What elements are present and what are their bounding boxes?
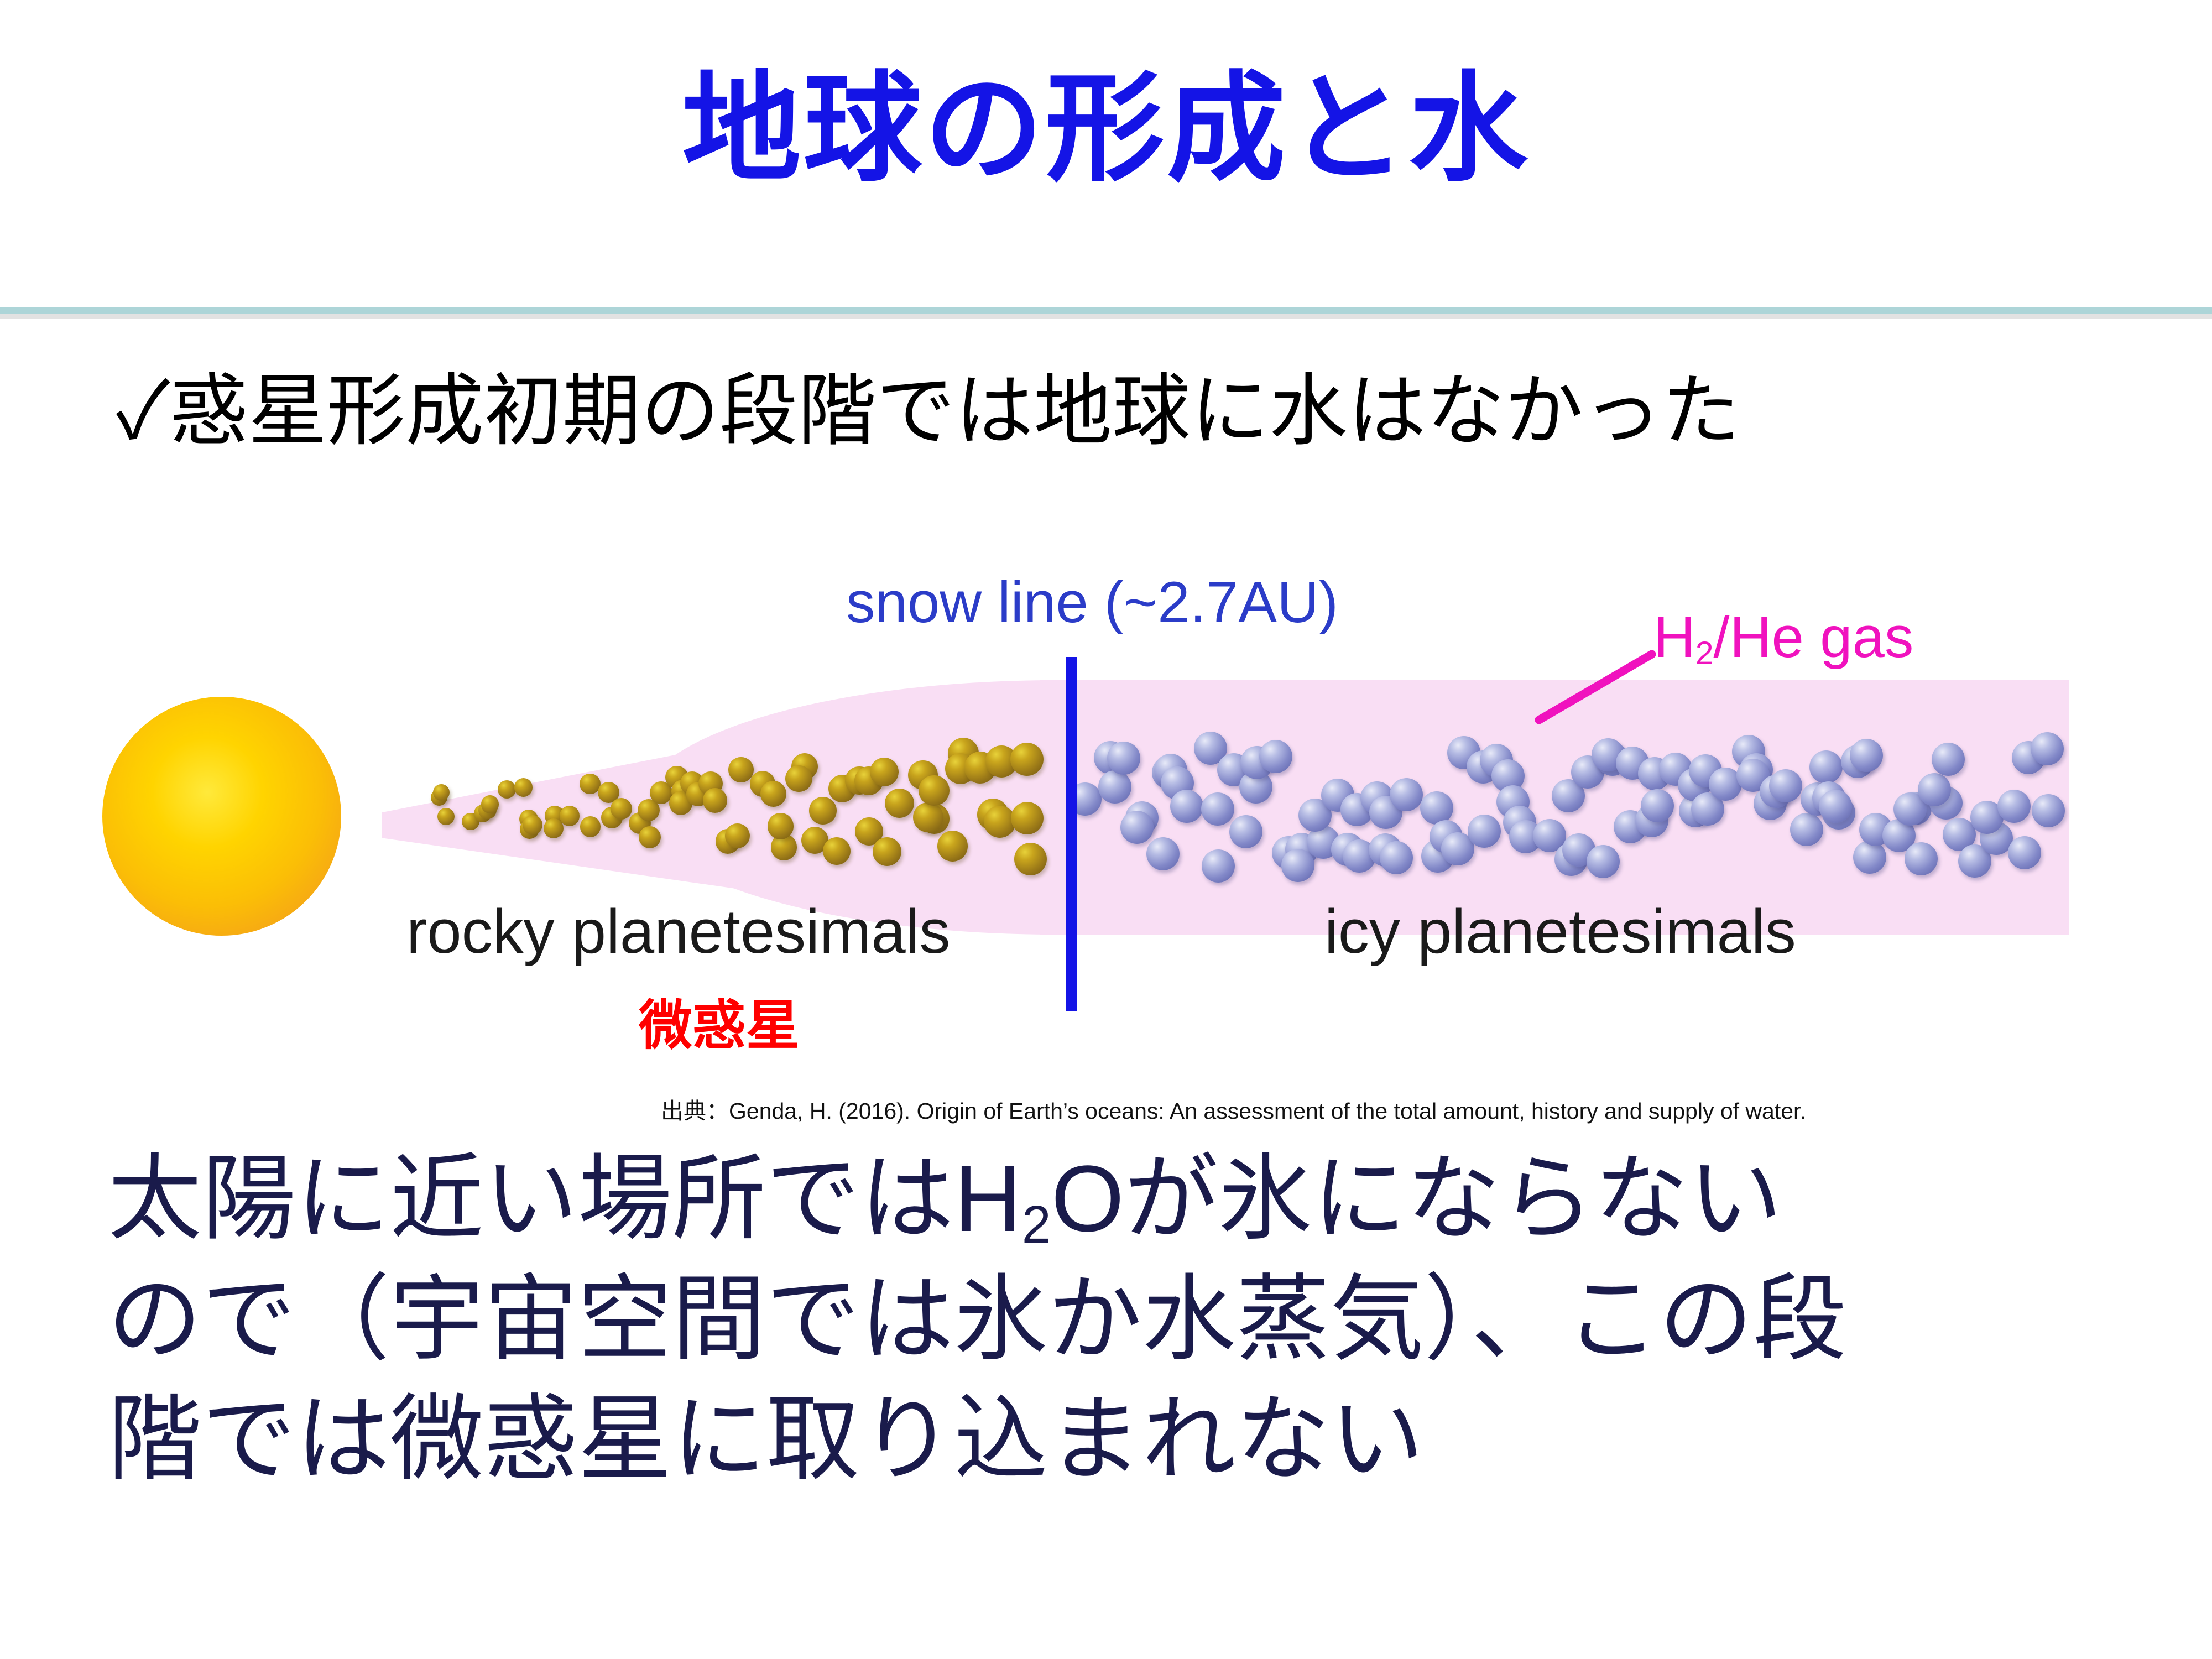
- gas-label-rest: /He gas: [1714, 605, 1914, 670]
- conclusion-line-3: 階では微惑星に取り込まれない: [108, 1380, 2187, 1500]
- conclusion-line-2: ので（宇宙空間では氷か水蒸気）、この段: [108, 1260, 2187, 1380]
- protoplanetary-disk-diagram: snow line (~2.7AU) H2/He gas rocky plane…: [0, 514, 2212, 1139]
- page-title: 地球の形成と水: [0, 66, 2212, 191]
- conclusion-line-1-subscript: 2: [1022, 1196, 1051, 1254]
- source-citation: 出典：Genda, H. (2016). Origin of Earth’s o…: [661, 1092, 1806, 1125]
- conclusion-line-1-b: Oが氷にならない: [1051, 1146, 1782, 1251]
- gas-label-subscript: 2: [1695, 635, 1714, 671]
- snow-line-marker: [1066, 657, 1077, 1011]
- bullet-statement: ✓惑星形成初期の段階では地球に水はなかった: [116, 365, 2162, 458]
- conclusion-paragraph: 太陽に近い場所ではH2Oが氷にならない ので（宇宙空間では氷か水蒸気）、この段 …: [108, 1139, 2187, 1500]
- header-divider: [0, 307, 2212, 314]
- rocky-planetesimals-label: rocky planetesimals: [406, 896, 951, 967]
- header-divider-shadow: [0, 314, 2212, 319]
- gas-label: H2/He gas: [1653, 604, 1913, 672]
- conclusion-line-1: 太陽に近い場所ではH2Oが氷にならない: [108, 1139, 2187, 1260]
- snow-line-label: snow line (~2.7AU): [846, 570, 1338, 636]
- gas-leader-line-icon: [1535, 650, 1656, 724]
- conclusion-line-1-a: 太陽に近い場所ではH: [108, 1146, 1022, 1251]
- sun-icon: [102, 697, 341, 936]
- micro-planetesimal-jp-label: 微惑星: [639, 982, 800, 1060]
- rocky-planetesimal: [433, 784, 450, 801]
- icy-planetesimals-label: icy planetesimals: [1324, 896, 1796, 967]
- gas-label-h: H: [1653, 605, 1695, 670]
